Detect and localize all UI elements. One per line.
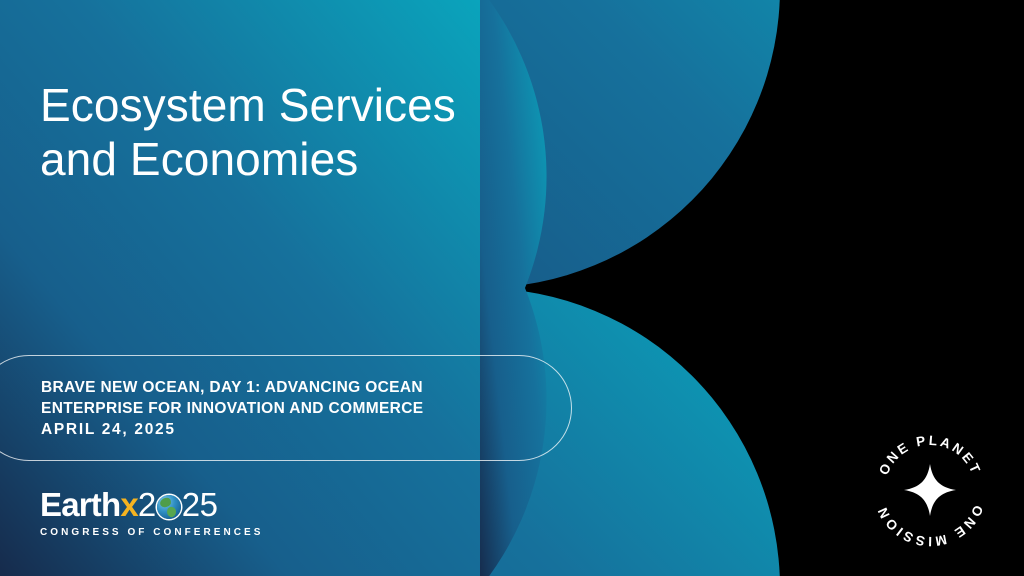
title-line-2: and Economies: [40, 132, 510, 186]
slide-title: Ecosystem Services and Economies: [40, 78, 510, 186]
logo-two-text: 2: [138, 488, 156, 521]
session-date: APRIL 24, 2025: [41, 419, 531, 440]
session-line-2: ENTERPRISE FOR INNOVATION AND COMMERCE: [41, 398, 531, 419]
logo-earth-text: Earth: [40, 488, 120, 521]
title-line-1: Ecosystem Services: [40, 78, 510, 132]
earth-globe-icon: [157, 495, 181, 519]
slide-canvas: Ecosystem Services and Economies BRAVE N…: [0, 0, 1024, 576]
logo-twentyfive-text: 25: [182, 488, 218, 521]
session-line-1: BRAVE NEW OCEAN, DAY 1: ADVANCING OCEAN: [41, 377, 531, 398]
earthx-wordmark: Earth x 2 25: [40, 487, 240, 521]
earthx-logo: Earth x 2 25 CONGRESS OF CONFERENCES: [40, 487, 240, 543]
logo-x-text: x: [120, 488, 138, 521]
four-pointed-star-icon: [904, 464, 956, 516]
one-planet-one-mission-badge: ONE PLANET ONE MISSION: [868, 428, 992, 552]
session-info-pill: BRAVE NEW OCEAN, DAY 1: ADVANCING OCEAN …: [0, 355, 572, 461]
logo-tagline: CONGRESS OF CONFERENCES: [40, 526, 240, 540]
